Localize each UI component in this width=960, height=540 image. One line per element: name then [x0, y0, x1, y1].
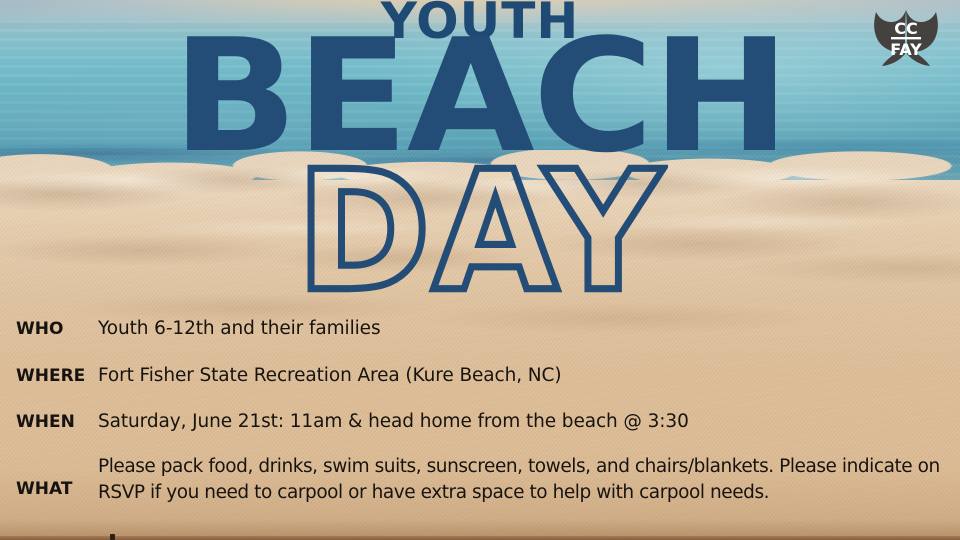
detail-label-who: WHO: [0, 319, 98, 339]
detail-row-what: WHAT Please pack food, drinks, swim suit…: [0, 454, 960, 505]
detail-row-where: WHERE Fort Fisher State Recreation Area …: [0, 365, 960, 386]
clipped-next-line-fragment: [110, 534, 115, 540]
detail-label-what: WHAT: [0, 454, 98, 499]
detail-row-when: WHEN Saturday, June 21st: 11am & head ho…: [0, 411, 960, 432]
detail-value-what: Please pack food, drinks, swim suits, su…: [98, 454, 960, 505]
detail-value-where: Fort Fisher State Recreation Area (Kure …: [98, 365, 960, 386]
logo-bottom-text: FAY: [890, 40, 922, 59]
detail-value-who: Youth 6-12th and their families: [98, 318, 960, 339]
headline-block: YOUTH BEACH DAY: [0, 0, 960, 310]
detail-label-when: WHEN: [0, 412, 98, 432]
details-block: WHO Youth 6-12th and their families WHER…: [0, 312, 960, 540]
detail-label-where: WHERE: [0, 366, 98, 386]
logo-top-text: CC: [894, 19, 917, 38]
headline-day: DAY: [0, 150, 960, 315]
beach-day-flyer: YOUTH BEACH DAY CC FAY WHO Youth 6-12th …: [0, 0, 960, 540]
detail-row-who: WHO Youth 6-12th and their families: [0, 318, 960, 339]
detail-value-when: Saturday, June 21st: 11am & head home fr…: [98, 411, 960, 432]
cc-fay-logo: CC FAY: [864, 6, 948, 72]
